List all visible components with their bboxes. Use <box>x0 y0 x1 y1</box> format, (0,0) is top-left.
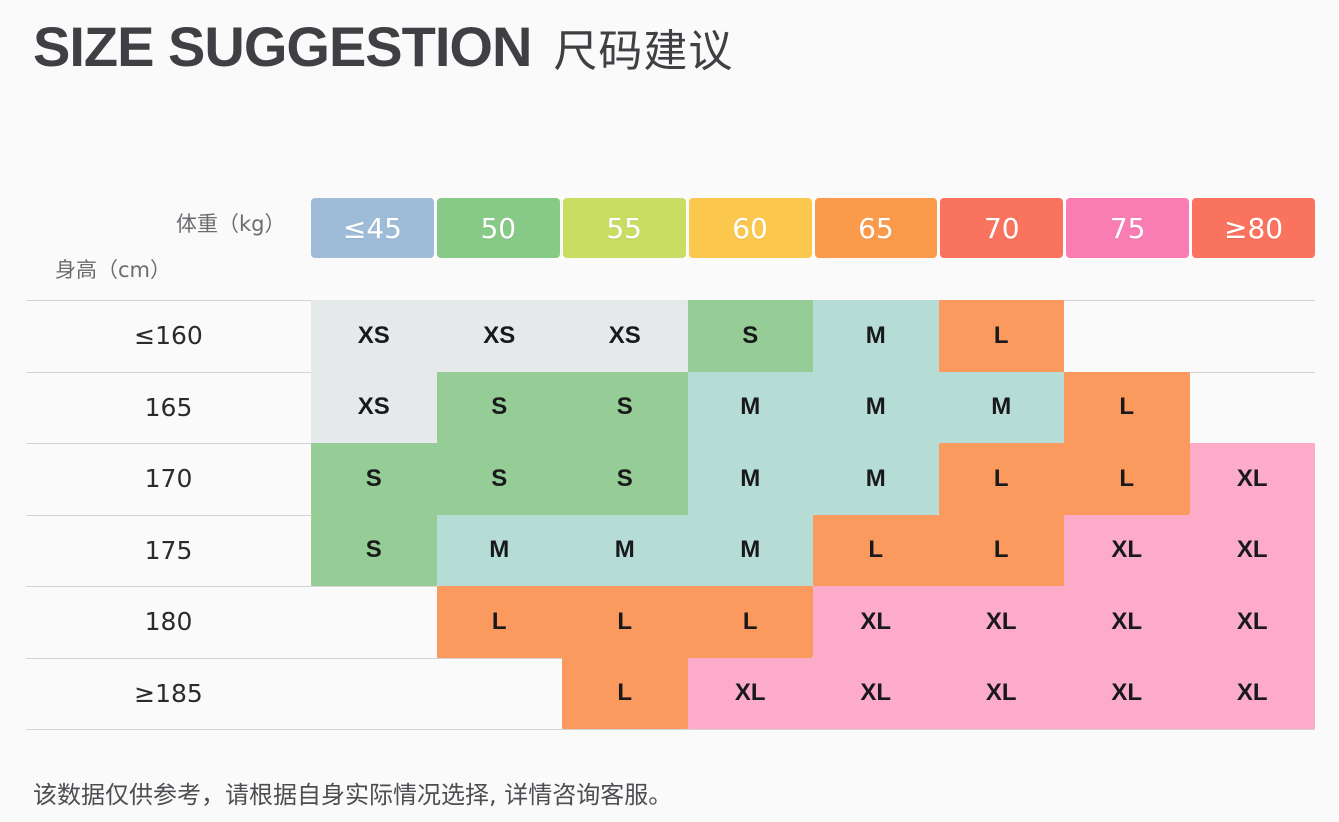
size-block-xs <box>311 372 437 444</box>
footer-note: 该数据仅供参考，请根据自身实际情况选择, 详情咨询客服。 <box>33 775 672 810</box>
size-block-xl <box>813 586 1315 658</box>
weight-header-label: 60 <box>732 212 768 245</box>
weight-header-5: 70 <box>940 198 1063 258</box>
weight-header-label: 65 <box>858 212 894 245</box>
size-block-s <box>437 372 688 444</box>
size-block-l <box>813 515 1064 587</box>
weight-axis-label: 体重（kg） <box>176 208 286 238</box>
weight-header-label: ≥80 <box>1224 212 1283 245</box>
size-block-m <box>688 372 1065 444</box>
weight-header-label: ≤45 <box>343 212 402 245</box>
height-row-label-text: 170 <box>145 464 193 493</box>
weight-header-4: 65 <box>815 198 938 258</box>
size-block-l <box>562 658 688 730</box>
size-block-s <box>311 515 437 587</box>
page-title: SIZE SUGGESTION 尺码建议 <box>33 14 733 79</box>
height-row-label-5: ≥185 <box>26 658 311 730</box>
height-row-label-text: ≤160 <box>134 321 203 350</box>
height-row-label-2: 170 <box>26 443 311 515</box>
weight-header-2: 55 <box>563 198 686 258</box>
weight-header-1: 50 <box>437 198 560 258</box>
height-axis-label: 身高（cm） <box>55 254 171 284</box>
size-grid: ≤160165170175180≥185XSXSXSSMLXSSSMMMLSSS… <box>26 300 1315 740</box>
size-block-xl <box>1064 515 1315 587</box>
size-block-xl <box>1190 443 1316 515</box>
weight-header-0: ≤45 <box>311 198 434 258</box>
weight-header-label: 75 <box>1110 212 1146 245</box>
row-separator <box>26 729 1315 730</box>
size-block-s <box>311 443 688 515</box>
title-english: SIZE SUGGESTION <box>33 14 531 79</box>
title-chinese: 尺码建议 <box>553 15 733 79</box>
size-block-xs <box>311 300 688 372</box>
weight-header-6: 75 <box>1066 198 1189 258</box>
weight-header-label: 55 <box>606 212 642 245</box>
size-block-m <box>437 515 814 587</box>
height-row-label-0: ≤160 <box>26 300 311 372</box>
weight-header-row: ≤45505560657075≥80 <box>311 198 1315 258</box>
weight-header-3: 60 <box>689 198 812 258</box>
height-row-label-4: 180 <box>26 586 311 658</box>
weight-header-label: 50 <box>480 212 516 245</box>
height-row-label-text: 180 <box>145 607 193 636</box>
size-block-l <box>437 586 814 658</box>
size-block-s <box>688 300 814 372</box>
size-block-m <box>813 300 939 372</box>
height-row-label-text: ≥185 <box>134 679 203 708</box>
size-block-l <box>1064 372 1190 444</box>
size-block-l <box>939 443 1190 515</box>
size-block-xl <box>688 658 1316 730</box>
weight-header-label: 70 <box>984 212 1020 245</box>
size-block-m <box>688 443 939 515</box>
size-block-l <box>939 300 1065 372</box>
weight-header-7: ≥80 <box>1192 198 1315 258</box>
height-row-label-1: 165 <box>26 372 311 444</box>
height-row-label-text: 165 <box>145 393 193 422</box>
height-row-label-text: 175 <box>145 536 193 565</box>
height-row-label-3: 175 <box>26 515 311 587</box>
